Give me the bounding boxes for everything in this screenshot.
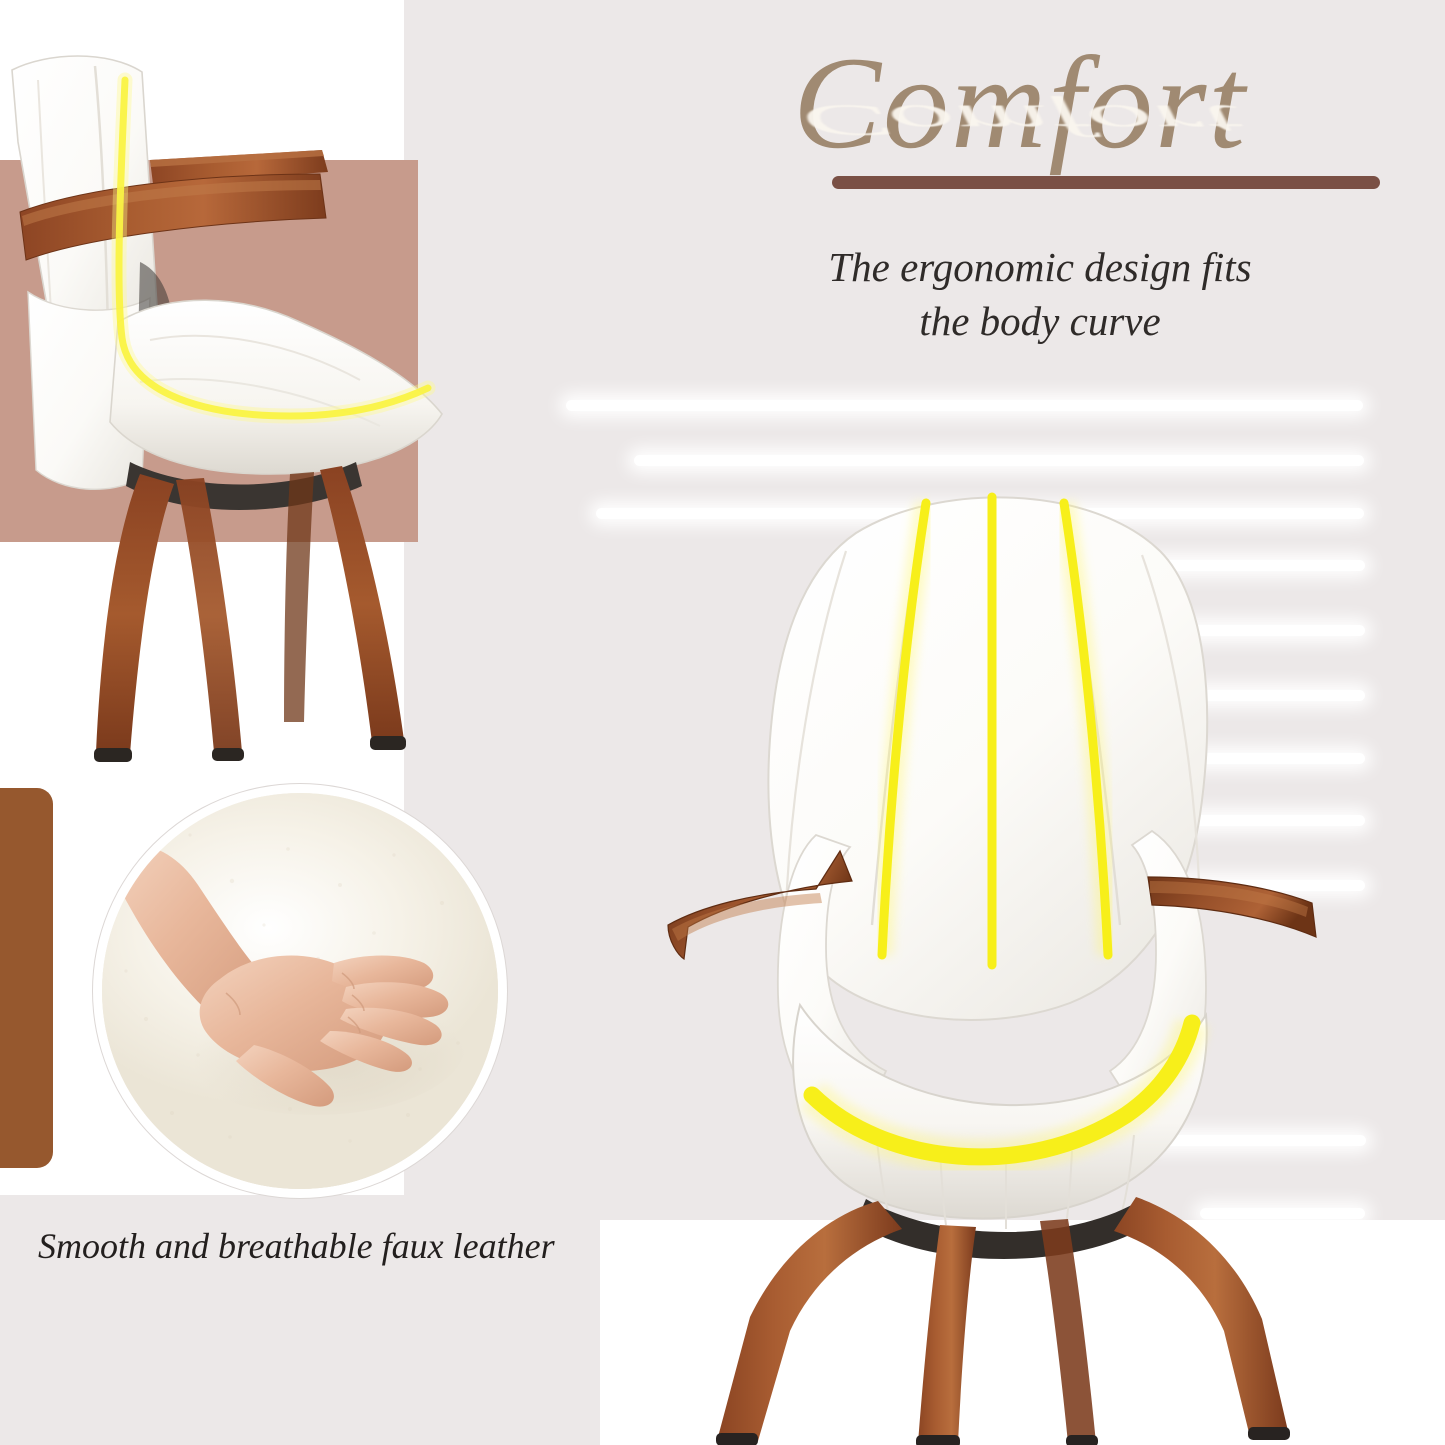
title-underline-bar [832, 176, 1380, 189]
leg-back-right [1040, 1219, 1096, 1443]
leg-front-center [918, 1225, 976, 1443]
side-leg-back-left [284, 472, 314, 722]
brown-accent-bar [0, 788, 53, 1168]
leg-front-right [1114, 1197, 1288, 1437]
leg-front-left [718, 1201, 902, 1441]
hand-pressing-foam [102, 793, 498, 1189]
foam-press-photo [99, 790, 501, 1192]
speed-line-1 [566, 400, 1363, 411]
poster-canvas: Comfort Comfort The ergonomic design fit… [0, 0, 1445, 1445]
chair-main-illustration [640, 455, 1340, 1445]
chair-side-view-illustration [0, 22, 460, 782]
side-leg-front-right [176, 478, 242, 752]
side-leg-front-left [96, 474, 174, 754]
title-block: Comfort Comfort [640, 28, 1400, 188]
page-title: Comfort [640, 28, 1400, 178]
side-leg-back-right [320, 466, 404, 742]
caption-faux-leather: Smooth and breathable faux leather [38, 1225, 638, 1267]
subtitle: The ergonomic design fits the body curve [700, 240, 1380, 348]
subtitle-line-2: the body curve [919, 298, 1160, 344]
subtitle-line-1: The ergonomic design fits [828, 244, 1251, 290]
